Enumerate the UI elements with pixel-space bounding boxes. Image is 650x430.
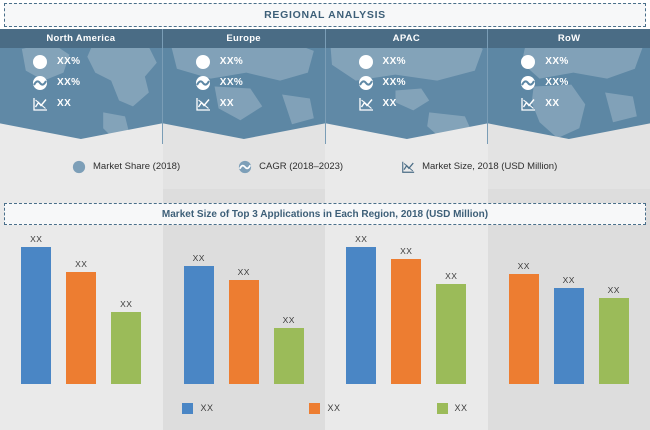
legend-label-cagr: CAGR (2018–2023) [259, 161, 343, 172]
metric-row-market-size: XX [195, 93, 325, 114]
series-legend-item-1[interactable]: XX [182, 403, 213, 414]
region-name-row: RoW [488, 29, 650, 48]
bar-data-label: XX [518, 261, 530, 271]
metrics-legend-strip: Market Share (2018) CAGR (2018–2023) Mar… [0, 144, 650, 189]
region-panel-europe[interactable]: Europe XX% XX% [162, 29, 325, 144]
panel-bottom-chevron [487, 123, 650, 144]
metric-value-cagr: XX% [383, 77, 406, 88]
bar-item[interactable]: XX [599, 234, 629, 384]
bar-item[interactable]: XX [554, 234, 584, 384]
metric-row-cagr: XX% [32, 72, 162, 93]
metric-value-market-share: XX% [383, 56, 406, 67]
bar-series-1[interactable] [346, 247, 376, 384]
legend-label-market-share: Market Share (2018) [93, 161, 180, 172]
bar-item[interactable]: XX [21, 234, 51, 384]
metric-row-market-size: XX [520, 93, 650, 114]
series-legend-item-3[interactable]: XX [437, 403, 468, 414]
series-color-swatch-green [437, 403, 448, 414]
metric-value-market-size: XX [220, 98, 234, 109]
bar-series-1[interactable] [21, 247, 51, 384]
applications-bar-chart: XX XX XX XX XX [0, 189, 650, 430]
bar-data-label: XX [30, 234, 42, 244]
bar-series-2[interactable] [66, 272, 96, 384]
series-legend-label-3: XX [455, 403, 468, 413]
market-size-line-chart-icon [195, 96, 211, 112]
cagr-circle-icon [238, 160, 252, 174]
chart-group-north-america: XX XX XX [0, 189, 163, 430]
page-title: REGIONAL ANALYSIS [264, 9, 386, 21]
bar-series-2[interactable] [229, 280, 259, 384]
region-panel-apac[interactable]: APAC XX% XX% [325, 29, 488, 144]
bar-item[interactable]: XX [184, 234, 214, 384]
cagr-circle-icon [195, 75, 211, 91]
bar-series-1[interactable] [554, 288, 584, 384]
region-name-europe: Europe [163, 29, 325, 48]
metric-value-cagr: XX% [220, 77, 243, 88]
legend-label-market-size: Market Size, 2018 (USD Million) [422, 161, 557, 172]
region-metrics-north-america: XX% XX% XX [0, 51, 162, 114]
metric-row-cagr: XX% [520, 72, 650, 93]
bar-series-3[interactable] [599, 298, 629, 384]
cagr-circle-icon [358, 75, 374, 91]
metric-row-market-size: XX [32, 93, 162, 114]
region-panels: North America XX% XX% [0, 29, 650, 144]
market-share-pie-icon [358, 54, 374, 70]
metric-row-market-size: XX [358, 93, 488, 114]
bar-item[interactable]: XX [229, 234, 259, 384]
market-share-pie-icon [32, 54, 48, 70]
metric-value-market-share: XX% [220, 56, 243, 67]
region-panel-north-america[interactable]: North America XX% XX% [0, 29, 162, 144]
legend-item-market-share: Market Share (2018) [72, 160, 180, 174]
metric-value-market-share: XX% [545, 56, 568, 67]
metric-value-cagr: XX% [57, 77, 80, 88]
series-legend-label-1: XX [200, 403, 213, 413]
bar-data-label: XX [445, 271, 457, 281]
bar-item[interactable]: XX [391, 234, 421, 384]
bar-data-label: XX [238, 267, 250, 277]
bar-data-label: XX [355, 234, 367, 244]
metric-row-cagr: XX% [195, 72, 325, 93]
metric-value-market-size: XX [57, 98, 71, 109]
bar-series-3[interactable] [274, 328, 304, 384]
legend-item-market-size: Market Size, 2018 (USD Million) [401, 160, 557, 174]
metric-row-market-share: XX% [32, 51, 162, 72]
metric-row-market-share: XX% [358, 51, 488, 72]
bar-data-label: XX [193, 253, 205, 263]
series-color-swatch-blue [182, 403, 193, 414]
chart-group-apac: XX XX XX [325, 189, 488, 430]
series-legend-label-2: XX [327, 403, 340, 413]
panel-bottom-chevron [325, 123, 488, 144]
bar-item[interactable]: XX [274, 234, 304, 384]
region-name-apac: APAC [326, 29, 488, 48]
bar-series-3[interactable] [111, 312, 141, 384]
bar-data-label: XX [120, 299, 132, 309]
bar-series-2[interactable] [509, 274, 539, 384]
metric-row-market-share: XX% [520, 51, 650, 72]
chart-group-row: XX XX XX [488, 189, 650, 430]
metric-value-market-size: XX [545, 98, 559, 109]
chart-title-band: Market Size of Top 3 Applications in Eac… [4, 203, 646, 225]
panel-bottom-chevron [162, 123, 325, 144]
bar-item[interactable]: XX [509, 234, 539, 384]
bar-item[interactable]: XX [346, 234, 376, 384]
bar-series-3[interactable] [436, 284, 466, 384]
region-metrics-europe: XX% XX% XX [163, 51, 325, 114]
metric-value-cagr: XX% [545, 77, 568, 88]
bar-series-1[interactable] [184, 266, 214, 384]
bar-data-label: XX [563, 275, 575, 285]
metric-value-market-size: XX [383, 98, 397, 109]
metric-value-market-share: XX% [57, 56, 80, 67]
market-share-pie-icon [520, 54, 536, 70]
bar-series-2[interactable] [391, 259, 421, 384]
market-size-line-chart-icon [358, 96, 374, 112]
chart-title: Market Size of Top 3 Applications in Eac… [162, 209, 488, 220]
metric-row-cagr: XX% [358, 72, 488, 93]
bar-data-label: XX [400, 246, 412, 256]
market-size-line-chart-icon [520, 96, 536, 112]
region-metrics-row: XX% XX% XX [488, 51, 650, 114]
chart-group-europe: XX XX XX [163, 189, 326, 430]
panel-bottom-chevron [0, 123, 162, 144]
legend-item-cagr: CAGR (2018–2023) [238, 160, 343, 174]
bar-data-label: XX [283, 315, 295, 325]
regional-analysis-infographic: REGIONAL ANALYSIS North America XX% [0, 0, 650, 430]
series-color-swatch-orange [309, 403, 320, 414]
region-panel-row[interactable]: RoW XX% XX% [487, 29, 650, 144]
bar-data-label: XX [608, 285, 620, 295]
market-share-pie-icon [195, 54, 211, 70]
market-size-line-chart-icon [32, 96, 48, 112]
series-legend-item-2[interactable]: XX [309, 403, 340, 414]
regional-analysis-title-band: REGIONAL ANALYSIS [4, 3, 646, 27]
market-share-pie-icon [72, 160, 86, 174]
region-name-north-america: North America [0, 29, 162, 48]
bar-item[interactable]: XX [436, 234, 466, 384]
bar-item[interactable]: XX [111, 234, 141, 384]
metric-row-market-share: XX% [195, 51, 325, 72]
bar-data-label: XX [75, 259, 87, 269]
region-metrics-apac: XX% XX% XX [326, 51, 488, 114]
bar-item[interactable]: XX [66, 234, 96, 384]
cagr-circle-icon [32, 75, 48, 91]
cagr-circle-icon [520, 75, 536, 91]
market-size-line-chart-icon [401, 160, 415, 174]
